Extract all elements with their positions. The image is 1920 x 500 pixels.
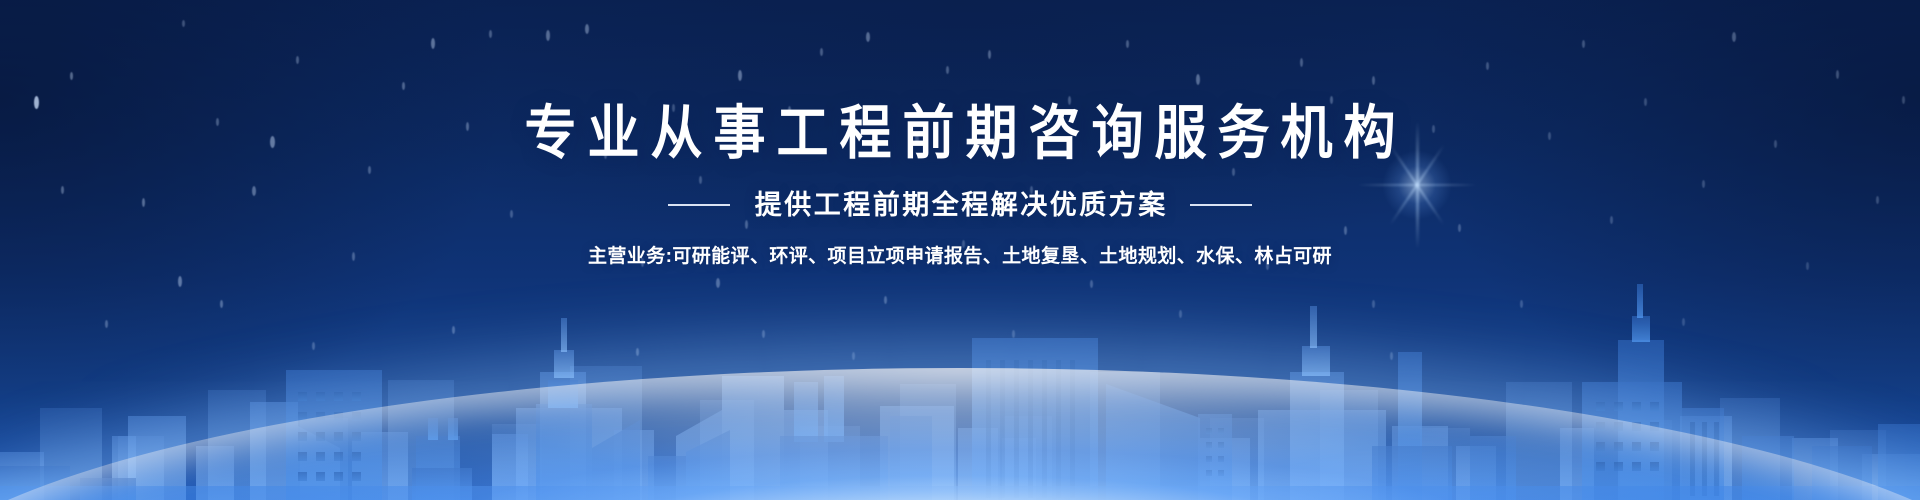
banner-subheadline-row: 提供工程前期全程解决优质方案 [0, 188, 1920, 222]
decor-rule-left [668, 204, 730, 206]
banner-subheadline: 提供工程前期全程解决优质方案 [752, 188, 1168, 222]
banner-headline: 专业从事工程前期咨询服务机构 [0, 100, 1920, 167]
horizon-arc [0, 368, 1920, 500]
banner-business-scope: 主营业务:可研能评、环评、项目立项申请报告、土地复垦、土地规划、水保、林占可研 [0, 244, 1920, 270]
horizon-glow [0, 336, 1920, 500]
banner-text-block: 专业从事工程前期咨询服务机构 提供工程前期全程解决优质方案 主营业务:可研能评、… [0, 104, 1920, 270]
decor-rule-right [1190, 204, 1252, 206]
promo-banner: 专业从事工程前期咨询服务机构 提供工程前期全程解决优质方案 主营业务:可研能评、… [0, 0, 1920, 500]
city-skyline [0, 240, 1920, 500]
